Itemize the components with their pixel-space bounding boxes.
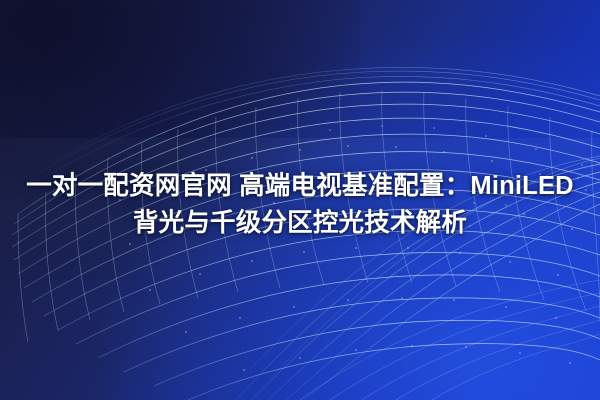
banner-title-container: 一对一配资网官网 高端电视基准配置：MiniLED背光与千级分区控光技术解析 xyxy=(0,168,600,242)
banner-title: 一对一配资网官网 高端电视基准配置：MiniLED背光与千级分区控光技术解析 xyxy=(22,168,578,242)
banner-image: 一对一配资网官网 高端电视基准配置：MiniLED背光与千级分区控光技术解析 xyxy=(0,0,600,400)
